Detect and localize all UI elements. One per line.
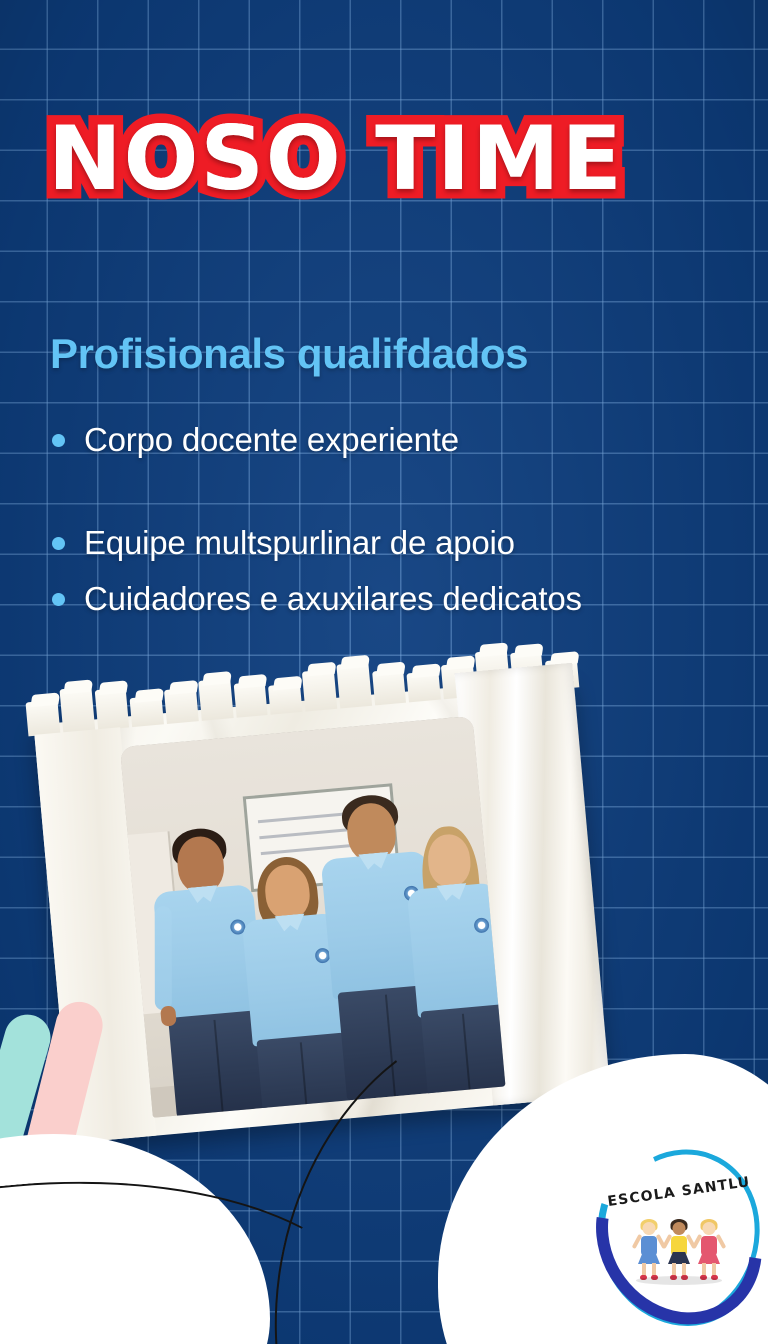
paper-tab — [372, 668, 407, 705]
child-figure — [695, 1218, 723, 1282]
paper-tab — [336, 662, 372, 709]
paper-tab — [268, 683, 302, 715]
paper-tab — [25, 699, 60, 736]
paper-tab — [233, 681, 268, 718]
three-children-icon — [631, 1210, 727, 1282]
brand-logo: ESCOLA SANTLU — [600, 1148, 758, 1328]
bullet-dot-icon — [52, 593, 65, 606]
shirt-logo-badge — [473, 917, 489, 933]
children-shadow — [636, 1276, 722, 1285]
section-subtitle: Profisionals qualifdados — [50, 330, 528, 378]
bullet-dot-icon — [52, 537, 65, 550]
paper-tab — [59, 687, 95, 734]
list-item: Corpo docente experiente — [52, 415, 742, 465]
paper-tab — [407, 671, 441, 703]
list-item: Equipe multspurlinar de apoio — [52, 518, 742, 568]
page-title-fill: NOSO TIME — [48, 107, 624, 211]
list-item-label: Equipe multspurlinar de apoio — [84, 518, 515, 568]
paper-tab — [94, 688, 129, 730]
list-item: Cuidadores e axuxilares dedicatos — [52, 574, 742, 624]
paper-tab — [164, 687, 199, 724]
paper-tab — [198, 679, 233, 721]
paper-tab — [302, 669, 337, 711]
bullet-list: Corpo docente experiente Equipe multspur… — [52, 415, 742, 624]
list-item-label: Corpo docente experiente — [84, 415, 459, 465]
child-figure — [665, 1218, 693, 1282]
bullet-dot-icon — [52, 434, 65, 447]
arm — [155, 906, 172, 1010]
hand — [160, 1005, 177, 1026]
page-title: NOSO TIME NOSO TIME — [48, 107, 688, 217]
child-figure — [635, 1218, 663, 1282]
list-item-label: Cuidadores e axuxilares dedicatos — [84, 574, 582, 624]
poster-canvas: NOSO TIME NOSO TIME Profisionals qualifd… — [0, 0, 768, 1344]
paper-tab — [130, 695, 164, 727]
